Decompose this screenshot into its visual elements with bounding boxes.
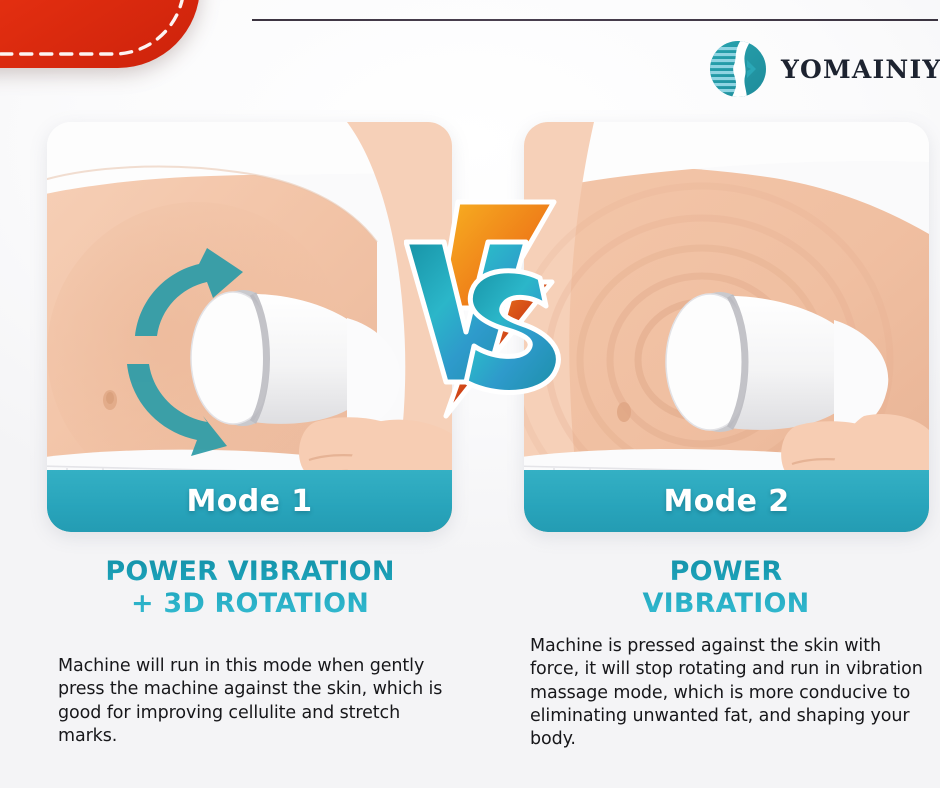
mode-1-headline: POWER VIBRATION+ 3D ROTATION bbox=[44, 556, 456, 619]
mode-2-text-column: POWERVIBRATION Machine is pressed agains… bbox=[520, 556, 932, 751]
mode-card-1[interactable]: Mode 1 bbox=[47, 122, 452, 532]
mode-card-2[interactable]: Mode 2 bbox=[524, 122, 929, 532]
infographic-page: YOMAINIY bbox=[0, 0, 940, 788]
mode-1-badge-bar: Mode 1 bbox=[47, 470, 452, 532]
mode-2-headline: POWERVIBRATION bbox=[520, 556, 932, 619]
mode-1-text-column: POWER VIBRATION+ 3D ROTATION Machine wil… bbox=[44, 556, 456, 748]
mode-1-description: Machine will run in this mode when gentl… bbox=[44, 655, 456, 748]
mode-2-badge-bar: Mode 2 bbox=[524, 470, 929, 532]
mode-2-badge-label: Mode 2 bbox=[663, 484, 789, 519]
mode-1-badge-label: Mode 1 bbox=[186, 484, 312, 519]
mode-2-description: Machine is pressed against the skin with… bbox=[520, 635, 932, 751]
